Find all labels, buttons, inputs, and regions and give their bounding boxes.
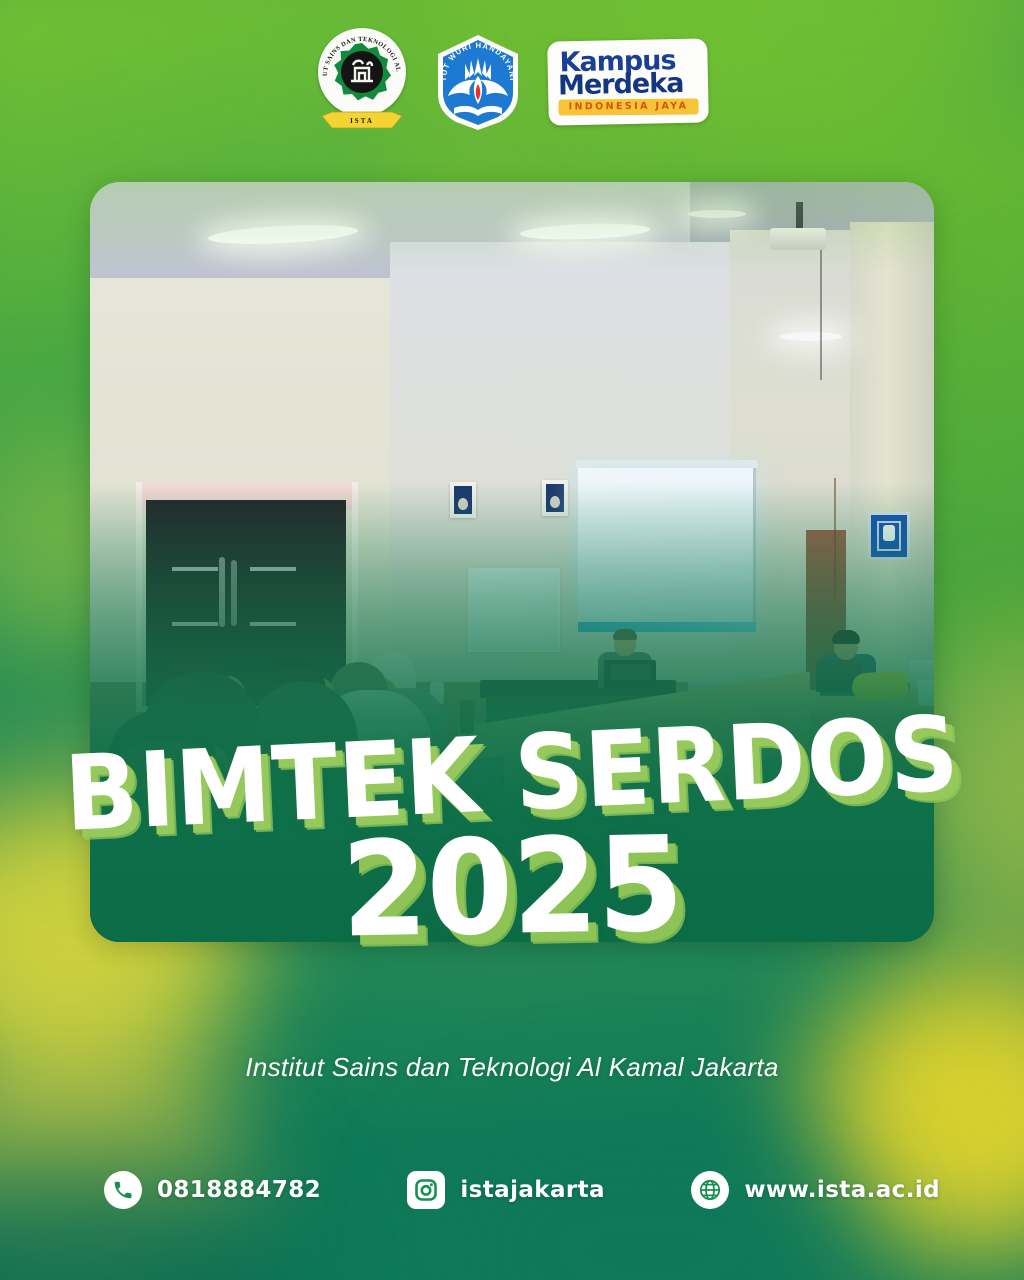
contact-phone-label: 0818884782 <box>157 1177 321 1203</box>
logo-row: INSTITUT SAINS DAN TEKNOLOGI AL KAMAL IS… <box>0 28 1024 136</box>
ista-logo-icon: INSTITUT SAINS DAN TEKNOLOGI AL KAMAL IS… <box>316 28 408 136</box>
footer-contact-bar: 0818884782 istajakarta www.ista.ac.i <box>104 1162 940 1218</box>
ista-calligraphy-glyph <box>341 51 383 93</box>
phone-icon <box>104 1171 142 1209</box>
poster-root: INSTITUT SAINS DAN TEKNOLOGI AL KAMAL IS… <box>0 0 1024 1280</box>
contact-website-label: www.ista.ac.id <box>744 1177 940 1203</box>
contact-website[interactable]: www.ista.ac.id <box>691 1171 940 1209</box>
instagram-icon <box>407 1171 445 1209</box>
kampus-merdeka-tagline: INDONESIA JAYA <box>558 99 698 115</box>
photo-top-fade <box>90 182 934 272</box>
contact-phone[interactable]: 0818884782 <box>104 1171 321 1209</box>
contact-instagram[interactable]: istajakarta <box>407 1171 605 1209</box>
globe-icon <box>691 1171 729 1209</box>
poster-subtitle: Institut Sains dan Teknologi Al Kamal Ja… <box>0 1052 1024 1083</box>
contact-instagram-label: istajakarta <box>460 1177 605 1203</box>
ista-ribbon-label: ISTA <box>350 117 374 125</box>
ista-ribbon: ISTA <box>320 108 404 134</box>
photo-bottom-fade <box>90 482 934 942</box>
kampus-merdeka-line2: Merdeka <box>558 72 698 98</box>
event-photo <box>90 182 934 942</box>
kampus-merdeka-logo: Kampus Merdeka INDONESIA JAYA <box>547 38 709 125</box>
tut-wuri-handayani-logo-icon: TUT WURI HANDAYANI <box>430 32 526 132</box>
